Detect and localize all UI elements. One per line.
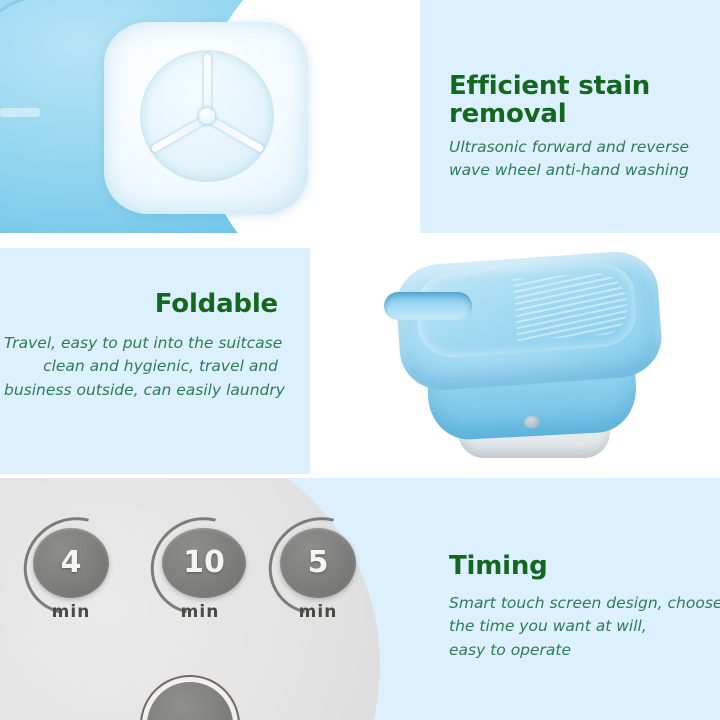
tub-side-notch-left <box>0 108 40 117</box>
panel-2-body-line: clean and hygienic, travel and <box>4 355 278 378</box>
timer-unit-label: min <box>160 602 240 622</box>
timer-button-5min[interactable]: 5 <box>280 528 356 598</box>
washer-base-screw <box>524 416 540 428</box>
product-photo-control-panel: 4 min 10 min 5 min <box>0 478 400 720</box>
panel-2-heading: Foldable <box>22 290 278 318</box>
panel-1-body-line: Ultrasonic forward and reverse <box>449 136 717 159</box>
timer-unit-label: min <box>31 602 111 622</box>
feature-panel-foldable: Foldable Travel, easy to put into the su… <box>0 248 720 474</box>
panel-2-body-line: Travel, easy to put into the suitcase <box>4 332 278 355</box>
panel-3-body: Smart touch screen design, choose the ti… <box>449 592 717 662</box>
pulsator-disc <box>140 50 274 182</box>
product-photo-folded-washer <box>310 248 720 474</box>
panel-2-body-line: business outside, can easily laundry <box>4 379 278 402</box>
product-photo-tub-top-view <box>0 0 420 233</box>
panel-1-heading: Efficient stain removal <box>449 72 711 128</box>
panel-3-body-line: easy to operate <box>449 639 717 662</box>
pulsator-blade-icon <box>205 115 264 153</box>
washer-lid-handle <box>384 292 472 320</box>
panel-2-body: Travel, easy to put into the suitcase cl… <box>4 332 278 402</box>
washer-lid <box>394 249 664 393</box>
panel-3-body-line: Smart touch screen design, choose <box>449 592 717 615</box>
feature-panel-efficient-stain-removal: Efficient stain removal Ultrasonic forwa… <box>0 0 720 233</box>
timer-unit-label: min <box>278 602 358 622</box>
timer-button-4min[interactable]: 4 <box>33 528 109 598</box>
timer-button-value: 5 <box>280 545 356 580</box>
panel-3-heading: Timing <box>449 552 699 580</box>
product-infographic: Efficient stain removal Ultrasonic forwa… <box>0 0 720 720</box>
panel-3-body-line: the time you want at will, <box>449 615 717 638</box>
timer-button-value: 10 <box>162 545 246 580</box>
pulsator-hub <box>199 108 215 124</box>
tub-side-notch-right <box>330 96 344 156</box>
washer-lid-ridges <box>513 271 629 341</box>
timer-button-value: 4 <box>33 545 109 580</box>
timer-button-10min[interactable]: 10 <box>162 528 246 598</box>
inner-basin <box>104 22 308 214</box>
panel-1-body: Ultrasonic forward and reverse wave whee… <box>449 136 717 183</box>
panel-1-body-line: wave wheel anti-hand washing <box>449 159 717 182</box>
tub-seam-line <box>348 6 352 206</box>
